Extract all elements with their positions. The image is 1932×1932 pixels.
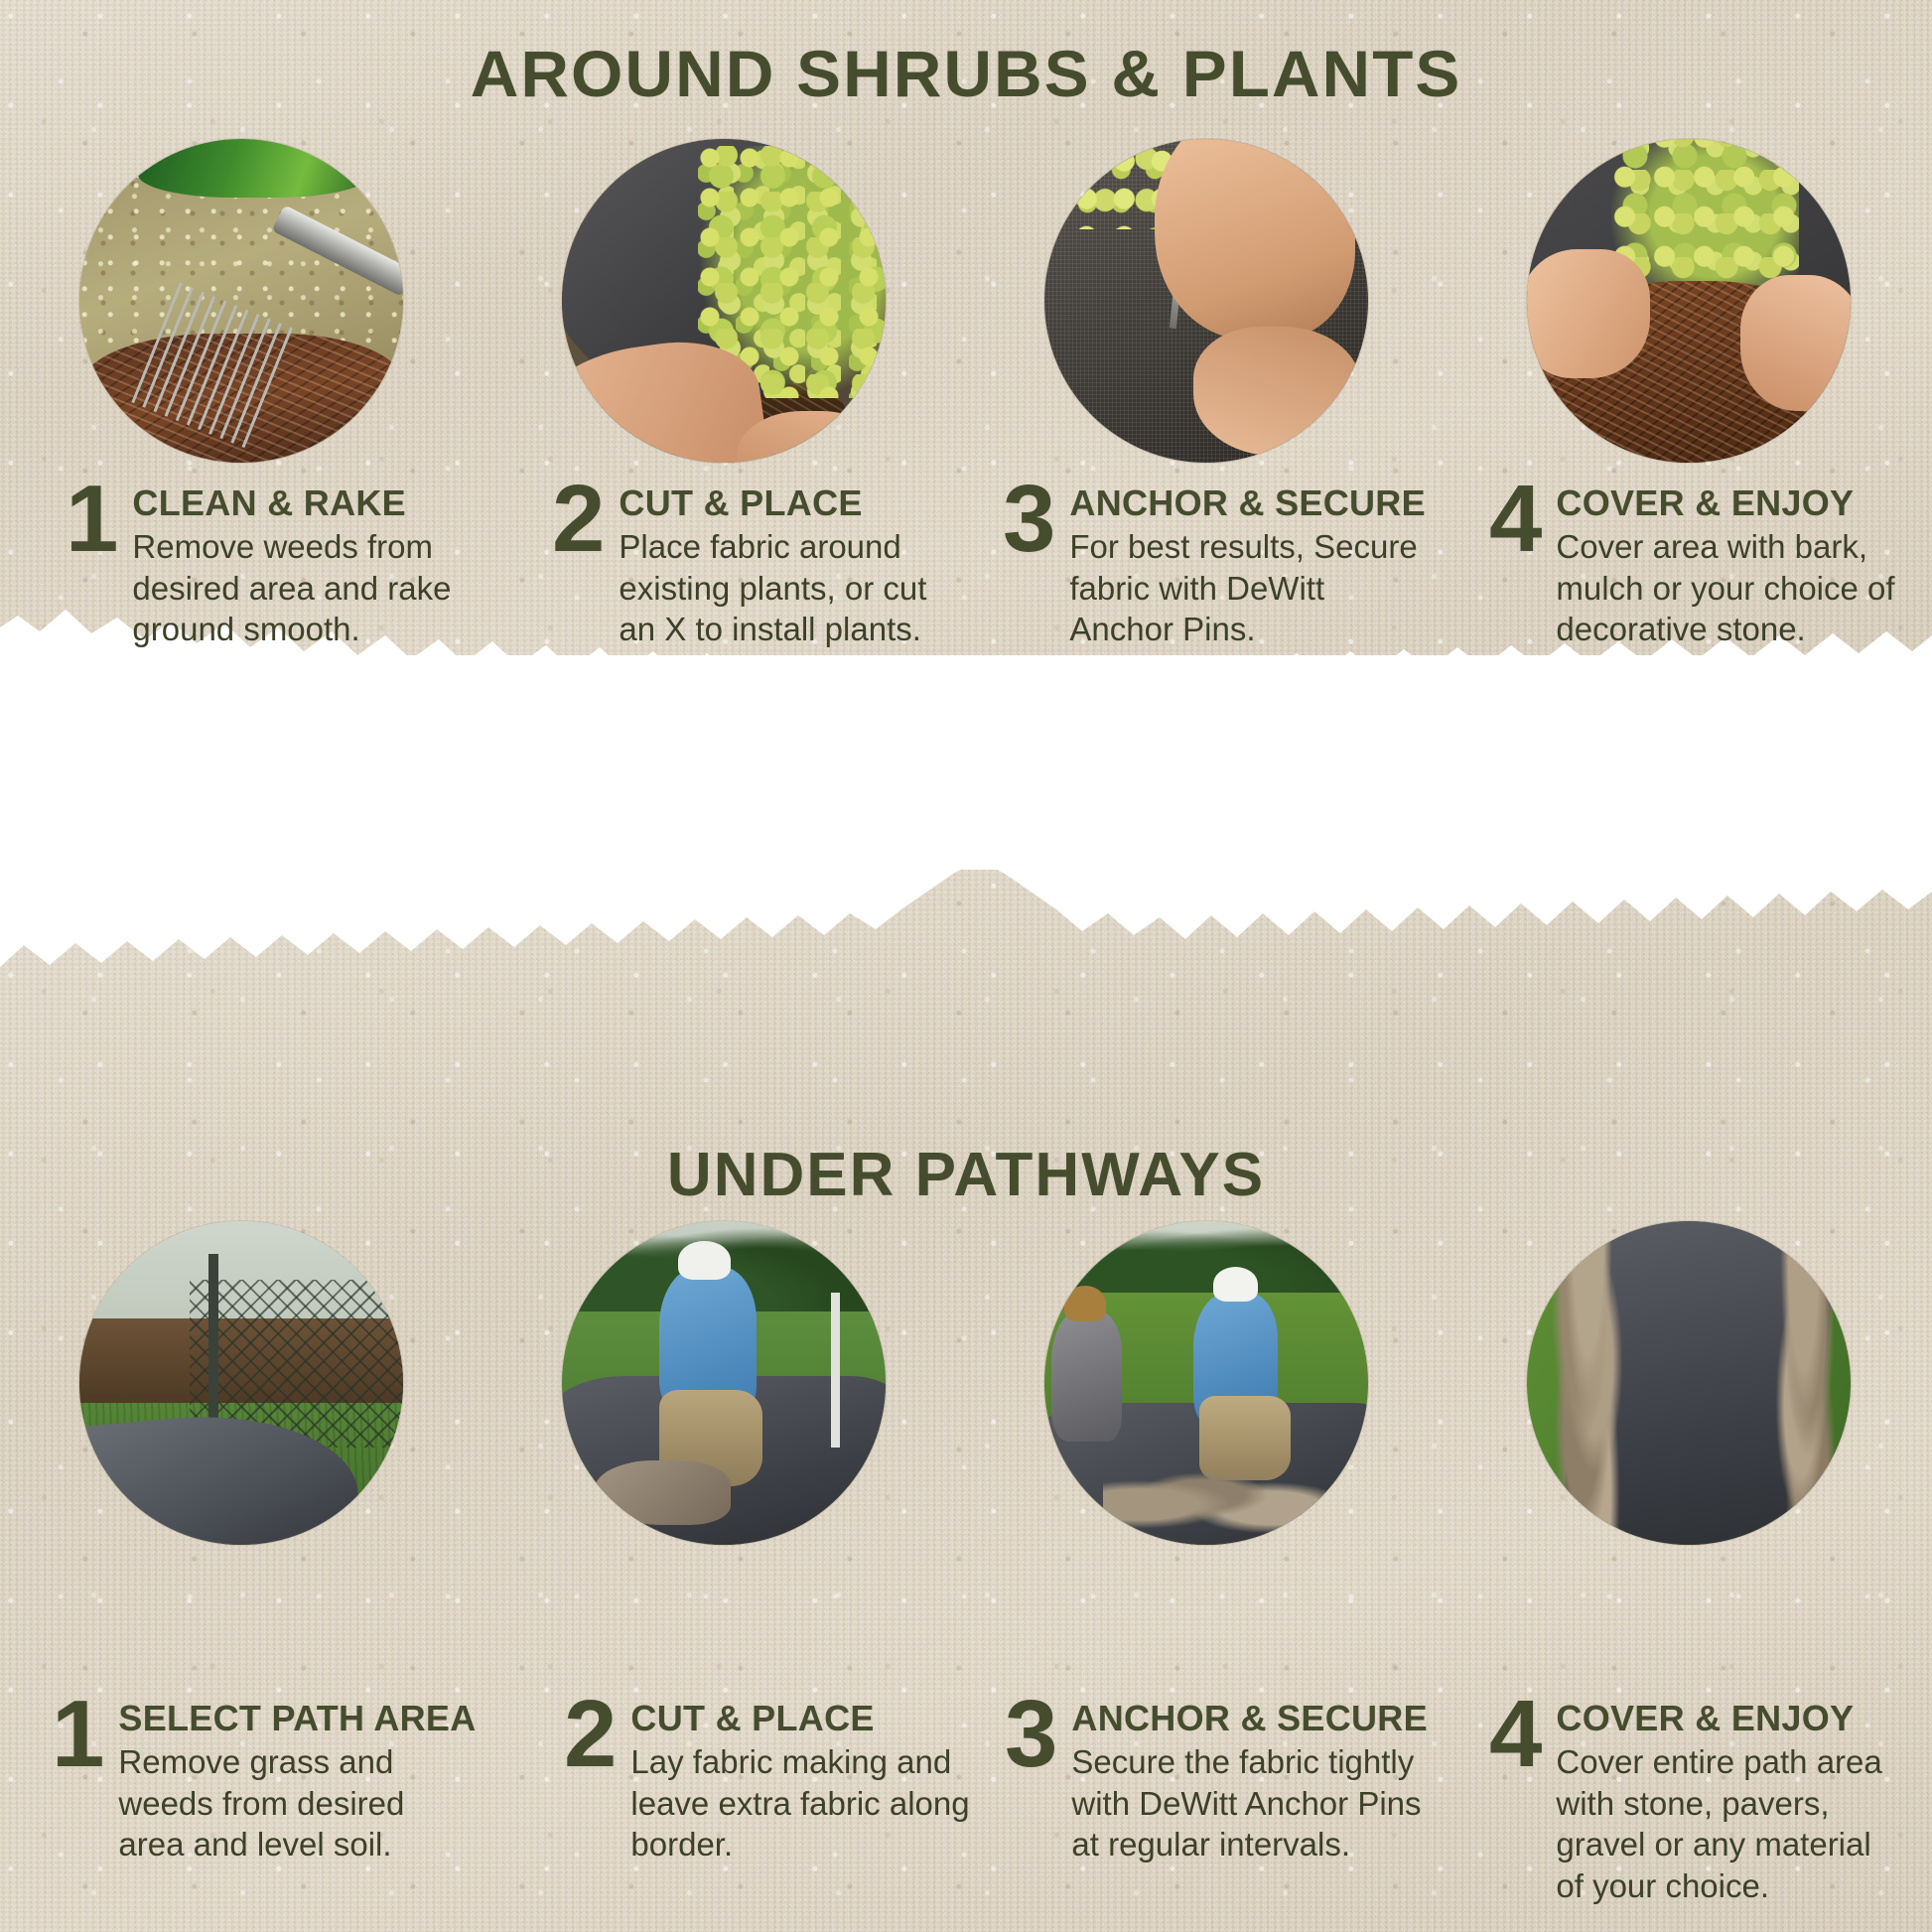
scene-mulch-spread	[1527, 139, 1851, 463]
step-heading: ANCHOR & SECURE	[1069, 484, 1426, 522]
step-number: 1	[66, 479, 118, 559]
step-heading: SELECT PATH AREA	[118, 1700, 476, 1737]
step-cell-shrubs-2	[483, 139, 965, 463]
section-title-pathways: UNDER PATHWAYS	[0, 1140, 1932, 1210]
scene-anchor-pin	[1044, 139, 1368, 463]
step-body: For best results, Secure fabric with DeW…	[1069, 526, 1426, 650]
scene-worker-laying-fabric	[562, 1221, 886, 1545]
caption-paths-2: 2 CUT & PLACE Lay fabric making and leav…	[564, 1694, 971, 1865]
step-heading: CUT & PLACE	[619, 484, 959, 522]
caption-paths-4: 4 COVER & ENJOY Cover entire path area w…	[1489, 1694, 1906, 1906]
step-cell-shrubs-4	[1448, 139, 1930, 463]
step-body: Place fabric around existing plants, or …	[619, 526, 959, 650]
step-number: 4	[1489, 479, 1542, 559]
infographic-poster: AROUND SHRUBS & PLANTS	[0, 0, 1932, 1932]
photo-row-shrubs	[0, 139, 1932, 463]
photo-select-path-area	[79, 1221, 403, 1545]
scene-fabric-shrub	[562, 139, 886, 463]
step-number: 3	[1005, 1694, 1057, 1774]
step-heading: COVER & ENJOY	[1556, 484, 1896, 522]
step-cell-paths-2	[483, 1221, 965, 1545]
step-number: 2	[564, 1694, 617, 1774]
caption-paths-1: 1 SELECT PATH AREA Remove grass and weed…	[52, 1694, 469, 1865]
photo-path-cover-and-enjoy	[1527, 1221, 1851, 1545]
scene-finished-stone-path	[1527, 1221, 1851, 1545]
step-cell-paths-3	[965, 1221, 1448, 1545]
step-heading: ANCHOR & SECURE	[1071, 1700, 1432, 1737]
caption-shrubs-4: 4 COVER & ENJOY Cover area with bark, mu…	[1489, 479, 1896, 650]
step-heading: CUT & PLACE	[630, 1700, 971, 1737]
step-heading: CLEAN & RAKE	[132, 484, 463, 522]
step-cell-paths-4	[1448, 1221, 1930, 1545]
photo-path-cut-and-place	[562, 1221, 886, 1545]
step-number: 1	[52, 1694, 104, 1774]
photo-row-pathways	[0, 1221, 1932, 1545]
step-cell-shrubs-3	[965, 139, 1448, 463]
step-cell-shrubs-1	[0, 139, 483, 463]
step-body: Lay fabric making and leave extra fabric…	[630, 1741, 971, 1865]
step-heading: COVER & ENJOY	[1556, 1700, 1906, 1737]
step-body: Remove grass and weeds from desired area…	[118, 1741, 476, 1865]
photo-anchor-and-secure	[1044, 139, 1368, 463]
step-body: Cover area with bark, mulch or your choi…	[1556, 526, 1896, 650]
step-number: 4	[1489, 1694, 1542, 1774]
scene-two-workers-stones	[1044, 1221, 1368, 1545]
caption-shrubs-2: 2 CUT & PLACE Place fabric around existi…	[552, 479, 959, 650]
step-cell-paths-1	[0, 1221, 483, 1545]
scene-fabric-roll-fence	[79, 1221, 403, 1545]
caption-paths-3: 3 ANCHOR & SECURE Secure the fabric tigh…	[1005, 1694, 1432, 1865]
caption-shrubs-3: 3 ANCHOR & SECURE For best results, Secu…	[1003, 479, 1420, 650]
step-number: 2	[552, 479, 605, 559]
step-body: Remove weeds from desired area and rake …	[132, 526, 463, 650]
section-title-shrubs: AROUND SHRUBS & PLANTS	[0, 36, 1932, 111]
step-number: 3	[1003, 479, 1055, 559]
photo-cover-and-enjoy	[1527, 139, 1851, 463]
photo-path-anchor-and-secure	[1044, 1221, 1368, 1545]
caption-shrubs-1: 1 CLEAN & RAKE Remove weeds from desired…	[66, 479, 463, 650]
step-body: Secure the fabric tightly with DeWitt An…	[1071, 1741, 1432, 1865]
scene-rake	[79, 139, 403, 463]
step-body: Cover entire path area with stone, paver…	[1556, 1741, 1906, 1906]
photo-clean-and-rake	[79, 139, 403, 463]
photo-cut-and-place	[562, 139, 886, 463]
